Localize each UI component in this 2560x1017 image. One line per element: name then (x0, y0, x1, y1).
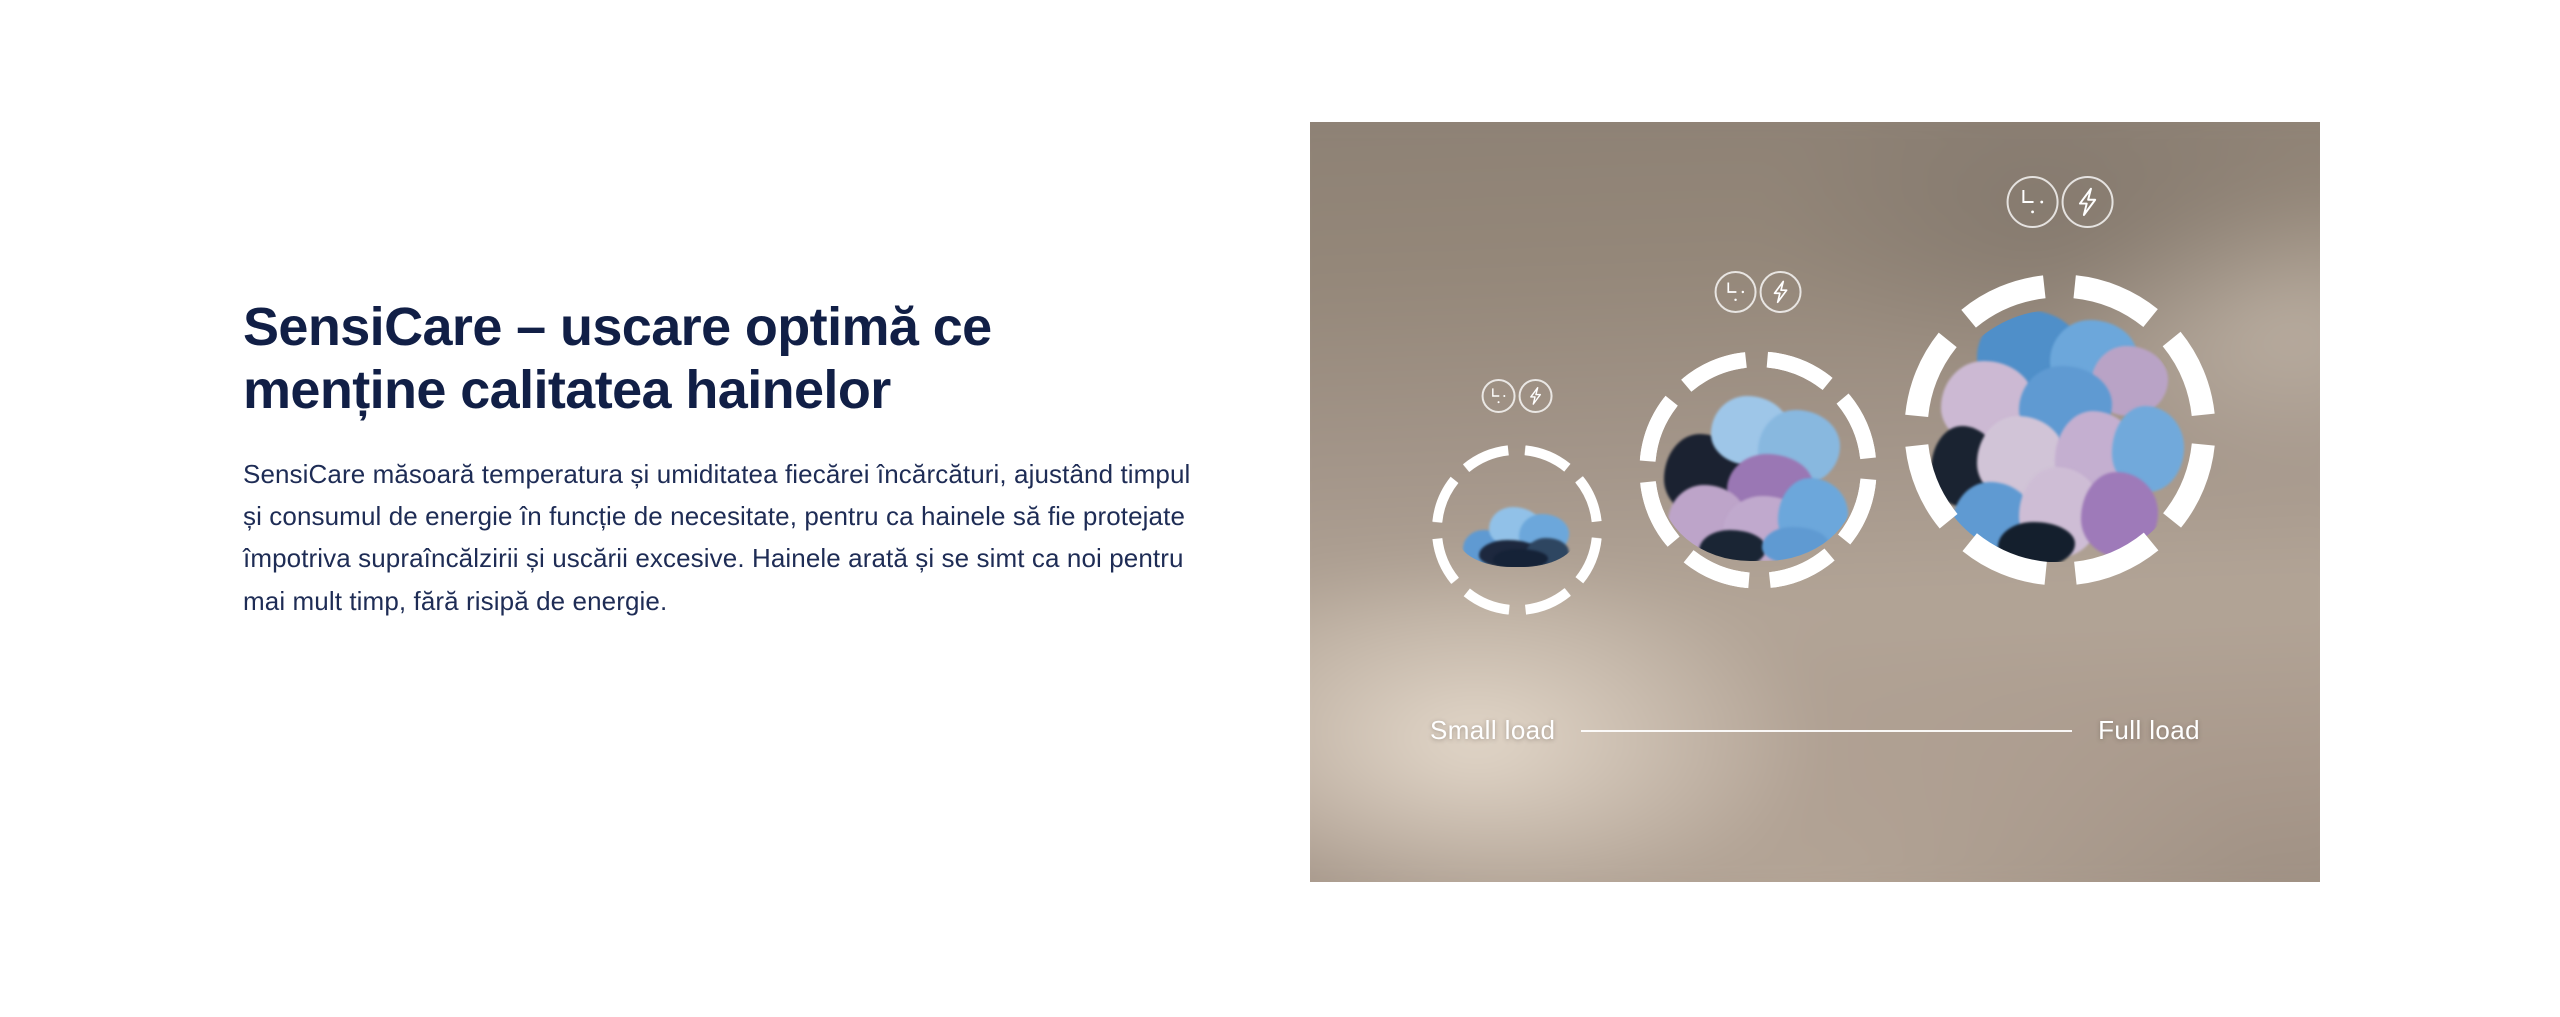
ring-segments-full (1900, 270, 2220, 590)
page-root: SensiCare – uscare optimă ce menține cal… (0, 0, 2560, 1017)
load-comparison-graphic (1310, 122, 2320, 882)
scale-connector-line (1581, 730, 2072, 732)
load-icons-medium (1715, 271, 1802, 313)
load-scale-legend: Small load Full load (1310, 715, 2320, 746)
lightning-icon (1759, 271, 1801, 313)
progress-ring-small (1428, 441, 1606, 619)
scale-label-start: Small load (1430, 715, 1555, 746)
load-group-full (1900, 270, 2220, 590)
page-title: SensiCare – uscare optimă ce menține cal… (243, 296, 1193, 421)
scale-label-end: Full load (2098, 715, 2200, 746)
progress-ring-medium (1635, 347, 1881, 593)
load-group-medium (1635, 347, 1881, 593)
body-paragraph: SensiCare măsoară temperatura și umidita… (243, 421, 1193, 621)
lightning-icon (1518, 379, 1552, 413)
load-group-small (1428, 441, 1606, 619)
content-column: SensiCare – uscare optimă ce menține cal… (243, 296, 1193, 622)
ring-segments-medium (1635, 347, 1881, 593)
lightning-icon (2061, 176, 2113, 228)
media-panel: Small load Full load (1310, 122, 2320, 882)
clock-icon (1482, 379, 1516, 413)
load-icons-small (1482, 379, 1553, 413)
clock-icon (1715, 271, 1757, 313)
load-icons-full (2007, 176, 2114, 228)
clock-icon (2007, 176, 2059, 228)
ring-segments-small (1428, 441, 1606, 619)
progress-ring-full (1900, 270, 2220, 590)
